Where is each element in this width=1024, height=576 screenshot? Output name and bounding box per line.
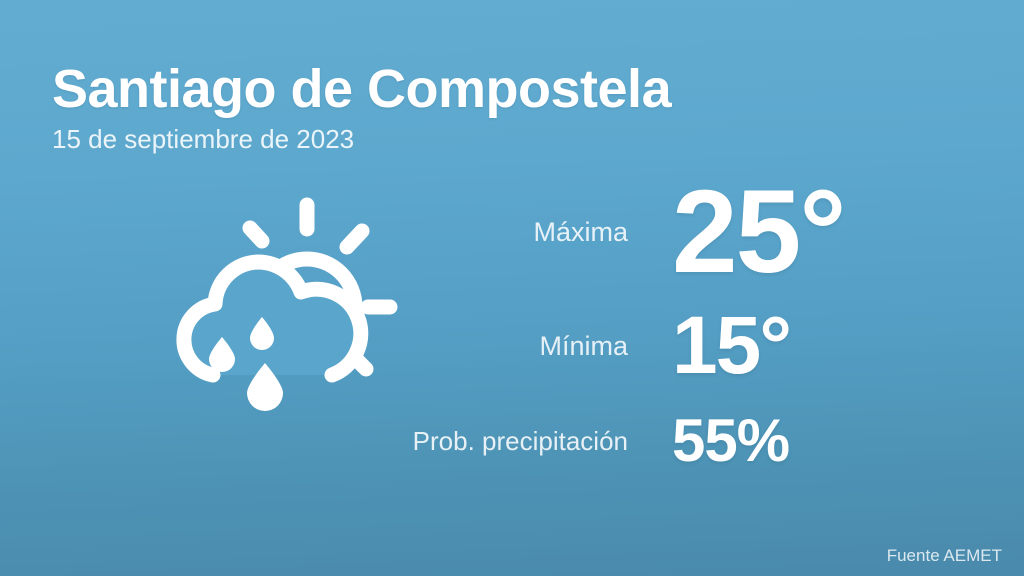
sun-behind-cloud-with-rain-icon xyxy=(150,185,430,425)
weather-icon xyxy=(150,185,430,425)
sun-ray-top-left xyxy=(250,228,262,241)
weather-card: Santiago de Compostela 15 de septiembre … xyxy=(0,0,1024,576)
forecast-date: 15 de septiembre de 2023 xyxy=(52,124,952,154)
stat-label-max-temperature: Máxima xyxy=(400,217,672,248)
weather-stats: Máxima 25° Mínima 15° Prob. precipitació… xyxy=(400,170,960,484)
stat-label-precipitation: Prob. precipitación xyxy=(400,426,672,457)
sun-ray-top-right xyxy=(347,231,362,247)
stat-value-max-temperature: 25° xyxy=(672,180,960,284)
source-attribution: Fuente AEMET xyxy=(887,546,1002,566)
stat-value-precipitation: 55% xyxy=(672,412,960,470)
location-title: Santiago de Compostela xyxy=(52,58,952,120)
stat-row-precipitation: Prob. precipitación 55% xyxy=(400,398,960,484)
stat-label-min-temperature: Mínima xyxy=(400,331,672,362)
card-header: Santiago de Compostela 15 de septiembre … xyxy=(52,58,952,154)
stat-row-min-temperature: Mínima 15° xyxy=(400,294,960,398)
stat-row-max-temperature: Máxima 25° xyxy=(400,170,960,294)
stat-value-min-temperature: 15° xyxy=(672,308,960,384)
